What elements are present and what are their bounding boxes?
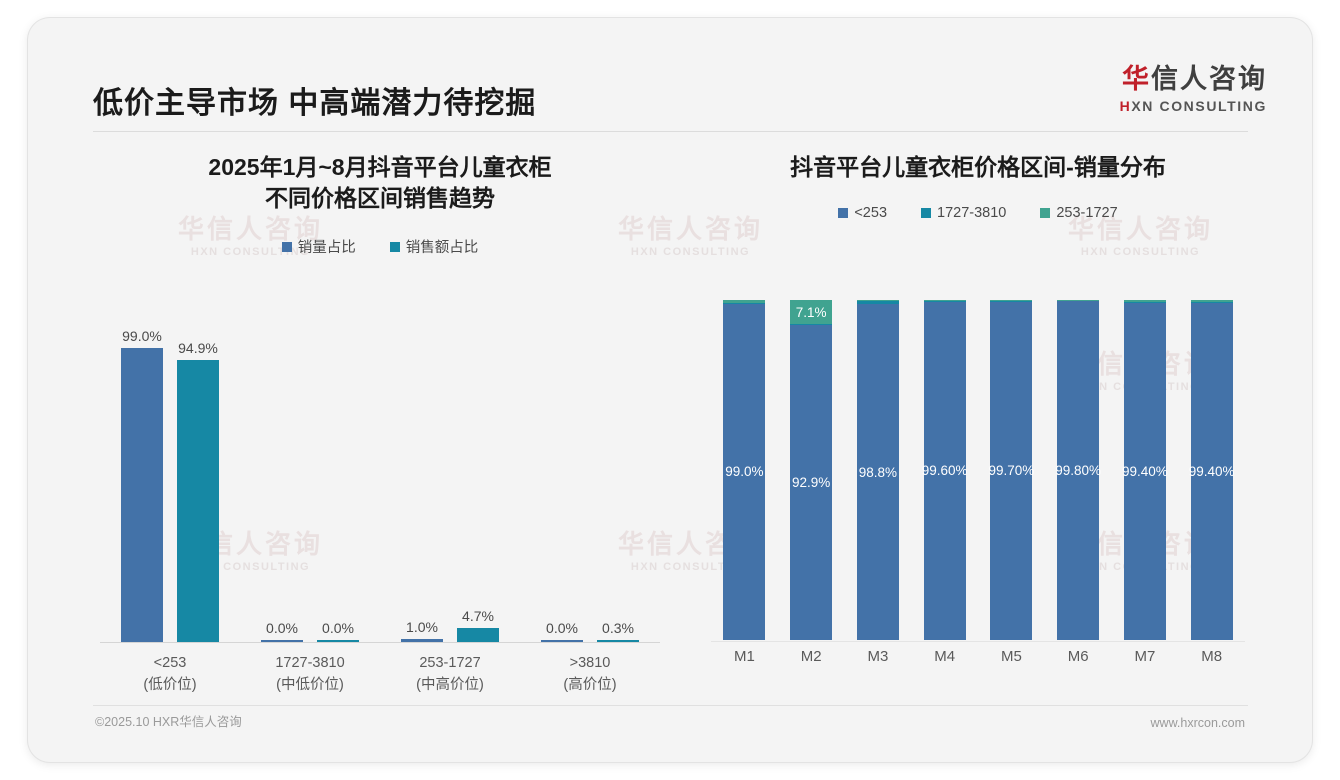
bar-group: 1.0%4.7% xyxy=(380,312,520,642)
right-chart-category-labels: M1M2M3M4M5M6M7M8 xyxy=(711,648,1245,678)
month-label: M3 xyxy=(845,648,912,665)
category-label-sub: (低价位) xyxy=(100,674,240,696)
left-chart-plot-area: 99.0%94.9%0.0%0.0%1.0%4.7%0.0%0.3% xyxy=(100,312,660,642)
logo-english: HXN CONSULTING xyxy=(1120,99,1267,113)
left-chart-legend: 销量占比销售额占比 xyxy=(90,236,670,257)
right-chart-legend-item[interactable]: 253-1727 xyxy=(1040,205,1117,221)
right-chart-legend: <2531727-3810253-1727 xyxy=(693,205,1263,221)
bar-value-label: 1.0% xyxy=(406,619,438,635)
bar-value-label: 0.0% xyxy=(546,620,578,636)
month-label: M2 xyxy=(778,648,845,665)
right-chart-axis xyxy=(711,641,1245,642)
stack-segment[interactable]: 99.40% xyxy=(1124,303,1166,640)
stacked-bar[interactable]: 0.40%0.00%99.60% xyxy=(924,300,966,640)
stack-segment[interactable]: 98.8% xyxy=(857,304,899,640)
stack-segment[interactable]: 99.60% xyxy=(924,302,966,640)
legend-label: <253 xyxy=(854,205,887,221)
bar-column[interactable]: 94.9% xyxy=(177,312,219,642)
stack-segment-label: 99.80% xyxy=(1055,463,1101,478)
right-chart-legend-item[interactable]: <253 xyxy=(838,205,887,221)
right-chart-panel: 抖音平台儿童衣柜价格区间-销量分布 <2531727-3810253-1727 … xyxy=(693,140,1263,700)
stack-segment[interactable]: 7.1% xyxy=(790,300,832,324)
month-label: M4 xyxy=(911,648,978,665)
left-chart-legend-item[interactable]: 销量占比 xyxy=(282,236,356,257)
category-label-main: 253-1727 xyxy=(419,655,480,671)
bar-value-label: 0.0% xyxy=(322,620,354,636)
bar-value-label: 99.0% xyxy=(122,328,162,344)
right-chart: 1.0%0.0%99.0%7.1%0.0%92.9%0.0%1.1%98.8%0… xyxy=(693,300,1263,700)
stack-segment-label: 99.60% xyxy=(922,463,968,478)
stack-segment-label: 99.40% xyxy=(1189,464,1235,479)
left-chart-title: 2025年1月~8月抖音平台儿童衣柜 不同价格区间销售趋势 xyxy=(90,152,670,214)
left-chart-category-labels: <253(低价位)1727-3810(中低价位)253-1727(中高价位)>3… xyxy=(100,652,660,712)
bar-column[interactable]: 99.0% xyxy=(121,312,163,642)
left-chart-axis xyxy=(100,642,660,643)
slide-header: 低价主导市场 中高端潜力待挖掘 华信人咨询 HXN CONSULTING xyxy=(28,18,1312,120)
bar-column[interactable]: 0.0% xyxy=(261,312,303,642)
legend-label: 1727-3810 xyxy=(937,205,1006,221)
stack-segment-label: 92.9% xyxy=(792,475,830,490)
bar-group: 0.0%0.0% xyxy=(240,312,380,642)
legend-label: 253-1727 xyxy=(1056,205,1117,221)
left-chart-legend-item[interactable]: 销售额占比 xyxy=(390,236,479,257)
bar-column[interactable]: 1.0% xyxy=(401,312,443,642)
stacked-bar[interactable]: 0.60%0.00%99.40% xyxy=(1191,300,1233,640)
stack-segment-label: 99.70% xyxy=(988,463,1034,478)
stacked-bar[interactable]: 0.30%0.00%99.70% xyxy=(990,300,1032,640)
legend-swatch-icon xyxy=(282,242,292,252)
legend-swatch-icon xyxy=(390,242,400,252)
category-label-main: 1727-3810 xyxy=(275,655,344,671)
header-divider xyxy=(93,131,1248,132)
category-label-main: <253 xyxy=(154,655,187,671)
category-label-sub: (中高价位) xyxy=(380,674,520,696)
page-title: 低价主导市场 中高端潜力待挖掘 xyxy=(93,78,536,122)
footer-website: www.hxrcon.com xyxy=(1151,716,1245,730)
month-label: M5 xyxy=(978,648,1045,665)
bar-column[interactable]: 0.0% xyxy=(317,312,359,642)
month-label: M8 xyxy=(1178,648,1245,665)
logo-chinese-first-char: 华 xyxy=(1122,64,1151,94)
left-chart-panel: 2025年1月~8月抖音平台儿童衣柜 不同价格区间销售趋势 销量占比销售额占比 … xyxy=(90,140,670,700)
category-label-sub: (中低价位) xyxy=(240,674,380,696)
stack-segment[interactable]: 99.0% xyxy=(723,304,765,640)
right-chart-title-text: 抖音平台儿童衣柜价格区间-销量分布 xyxy=(790,154,1166,180)
stacked-bar[interactable]: 1.0%0.0%99.0% xyxy=(723,300,765,640)
stack-segment[interactable]: 99.70% xyxy=(990,302,1032,640)
footer-copyright: ©2025.10 HXR华信人咨询 xyxy=(95,711,242,730)
right-chart-legend-item[interactable]: 1727-3810 xyxy=(921,205,1006,221)
stack-segment-label: 98.8% xyxy=(859,465,897,480)
right-chart-plot-area: 1.0%0.0%99.0%7.1%0.0%92.9%0.0%1.1%98.8%0… xyxy=(711,300,1245,640)
bar-column[interactable]: 4.7% xyxy=(457,312,499,642)
stack-segment-label: 99.0% xyxy=(725,464,763,479)
bar-group: 99.0%94.9% xyxy=(100,312,240,642)
right-chart-title: 抖音平台儿童衣柜价格区间-销量分布 xyxy=(693,152,1263,183)
logo-chinese-rest: 信人咨询 xyxy=(1151,64,1267,94)
stack-segment[interactable]: 99.40% xyxy=(1191,303,1233,640)
category-label: 1727-3810(中低价位) xyxy=(240,652,380,697)
stack-segment-label: 99.40% xyxy=(1122,464,1168,479)
legend-swatch-icon xyxy=(1040,208,1050,218)
legend-swatch-icon xyxy=(921,208,931,218)
bar[interactable] xyxy=(457,628,499,642)
bar-value-label: 0.3% xyxy=(602,620,634,636)
bar-value-label: 94.9% xyxy=(178,340,218,356)
logo-english-first-char: H xyxy=(1120,98,1132,114)
left-chart-title-line1: 2025年1月~8月抖音平台儿童衣柜 xyxy=(208,154,551,180)
left-chart-title-line2: 不同价格区间销售趋势 xyxy=(90,183,670,214)
category-label: >3810(高价位) xyxy=(520,652,660,697)
bar-column[interactable]: 0.0% xyxy=(541,312,583,642)
logo-english-rest: XN CONSULTING xyxy=(1131,98,1267,114)
stacked-bar[interactable]: 0.60%0.00%99.40% xyxy=(1124,300,1166,640)
month-label: M1 xyxy=(711,648,778,665)
legend-label: 销售额占比 xyxy=(406,236,479,257)
bar-column[interactable]: 0.3% xyxy=(597,312,639,642)
month-label: M6 xyxy=(1045,648,1112,665)
legend-swatch-icon xyxy=(838,208,848,218)
stack-segment[interactable]: 92.9% xyxy=(790,325,832,640)
bar[interactable] xyxy=(177,360,219,642)
stack-segment-label: 7.1% xyxy=(796,305,827,320)
bar-value-label: 4.7% xyxy=(462,608,494,624)
stacked-bar[interactable]: 7.1%0.0%92.9% xyxy=(790,300,832,640)
bar-value-label: 0.0% xyxy=(266,620,298,636)
company-logo: 华信人咨询 HXN CONSULTING xyxy=(1120,66,1267,113)
category-label: 253-1727(中高价位) xyxy=(380,652,520,697)
stack-segment[interactable]: 99.80% xyxy=(1057,301,1099,640)
month-label: M7 xyxy=(1112,648,1179,665)
stacked-bar[interactable]: 0.20%0.00%99.80% xyxy=(1057,300,1099,640)
category-label: <253(低价位) xyxy=(100,652,240,697)
left-chart: 99.0%94.9%0.0%0.0%1.0%4.7%0.0%0.3% <253(… xyxy=(90,312,670,702)
bar-group: 0.0%0.3% xyxy=(520,312,660,642)
category-label-main: >3810 xyxy=(570,655,611,671)
slide: 低价主导市场 中高端潜力待挖掘 华信人咨询 HXN CONSULTING 华信人… xyxy=(28,18,1312,762)
footer-divider xyxy=(93,705,1248,706)
stacked-bar[interactable]: 0.0%1.1%98.8% xyxy=(857,300,899,640)
legend-label: 销量占比 xyxy=(298,236,356,257)
bar[interactable] xyxy=(121,348,163,642)
logo-chinese: 华信人咨询 xyxy=(1120,66,1267,93)
category-label-sub: (高价位) xyxy=(520,674,660,696)
